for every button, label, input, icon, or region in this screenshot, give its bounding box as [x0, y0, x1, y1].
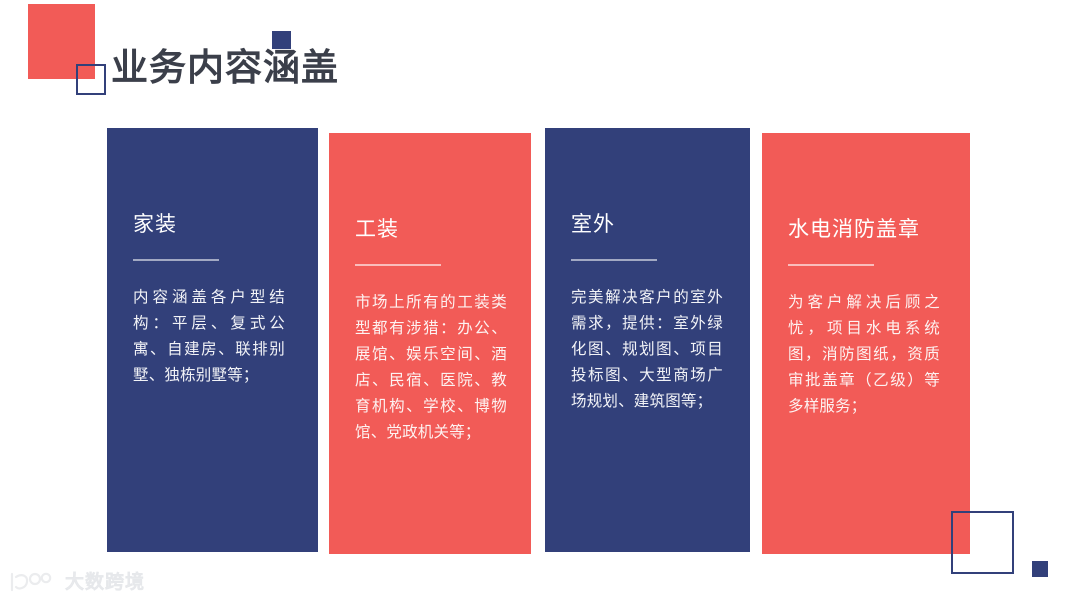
card-body-text: 市场上所有的工装类型都有涉猎：办公、展馆、娱乐空间、酒店、民宿、医院、教育机构、… [355, 289, 507, 445]
card-heading: 工装 [355, 215, 399, 243]
watermark-text: 大数跨境 [65, 570, 145, 594]
card-divider [355, 264, 441, 266]
content-card-outdoor: 室外 完美解决客户的室外需求，提供：室外绿化图、规划图、项目投标图、大型商场广场… [545, 128, 750, 552]
card-divider [133, 259, 219, 261]
decorative-outline-square-bottom [951, 511, 1014, 574]
content-card-home-decoration: 家装 内容涵盖各户型结构：平层、复式公寓、自建房、联排别墅、独栋别墅等； [107, 128, 318, 552]
decorative-small-square-bottom [1032, 561, 1048, 577]
card-body-text: 为客户解决后顾之忧，项目水电系统图，消防图纸，资质审批盖章（乙级）等多样服务； [788, 289, 940, 419]
card-group: 家装 内容涵盖各户型结构：平层、复式公寓、自建房、联排别墅、独栋别墅等； 工装 … [0, 0, 1080, 608]
card-heading: 水电消防盖章 [788, 215, 920, 243]
card-heading: 家装 [133, 210, 177, 238]
card-divider [788, 264, 874, 266]
card-heading: 室外 [571, 210, 615, 238]
content-card-commercial-decoration: 工装 市场上所有的工装类型都有涉猎：办公、展馆、娱乐空间、酒店、民宿、医院、教育… [329, 133, 531, 554]
card-body-text: 内容涵盖各户型结构：平层、复式公寓、自建房、联排别墅、独栋别墅等； [133, 284, 285, 388]
card-divider [571, 259, 657, 261]
card-body-text: 完美解决客户的室外需求，提供：室外绿化图、规划图、项目投标图、大型商场广场规划、… [571, 284, 723, 414]
dashu-kuajing-logo-icon [8, 570, 58, 594]
watermark: 大数跨境 [8, 570, 145, 594]
slide-canvas: 业务内容涵盖 家装 内容涵盖各户型结构：平层、复式公寓、自建房、联排别墅、独栋别… [0, 0, 1080, 608]
content-card-utilities-fire-stamp: 水电消防盖章 为客户解决后顾之忧，项目水电系统图，消防图纸，资质审批盖章（乙级）… [762, 133, 970, 554]
